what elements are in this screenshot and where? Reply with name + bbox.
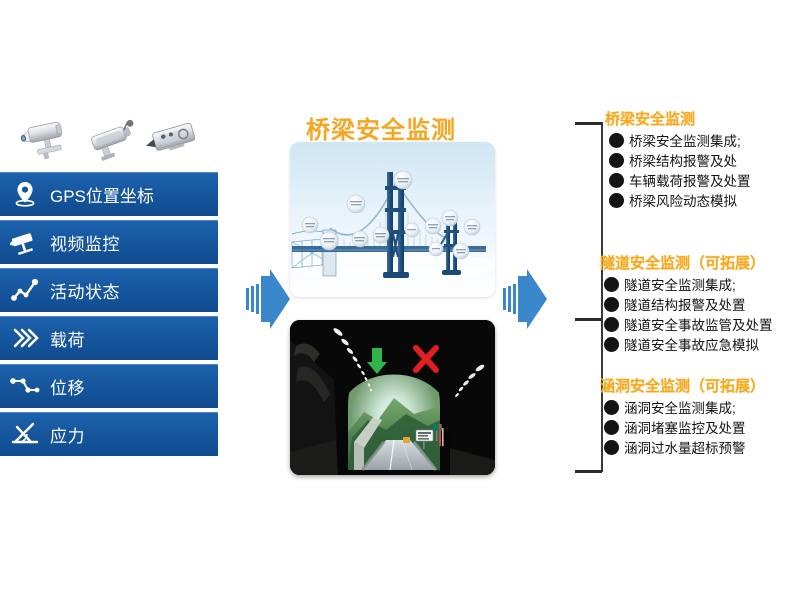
sidebar-item-displacement[interactable]: 位移 [0,364,218,408]
sidebar-item-label: 活动状态 [50,278,120,303]
group-item-list: 涵洞安全监测集成; 涵洞堵塞监控及处置 涵洞过水量超标预警 [600,397,765,457]
bullet-icon [604,400,619,415]
bullet-icon [609,193,624,208]
list-item: 隧道结构报警及处置 [600,294,773,314]
list-item-label: 桥梁结构报警及处 [629,150,737,170]
list-item: 涵洞堵塞监控及处置 [600,417,765,437]
sidebar-item-load[interactable]: 载荷 [0,316,218,360]
chevrons-load-icon [0,316,50,360]
tunnel-photo [290,320,495,475]
capability-group-bridge: 桥梁安全监测 桥梁安全监测集成; 桥梁结构报警及处 车辆载荷报警及处置 桥梁风险… [605,108,751,210]
list-item-label: 车辆载荷报警及处置 [629,170,751,190]
list-item: 桥梁安全监测集成; [605,130,751,150]
sidebar-item-label: 位移 [50,374,85,399]
sidebar-item-stress[interactable]: 应力 [0,412,218,456]
list-item-label: 隧道安全事故监管及处置 [624,314,773,334]
list-item-label: 涵洞过水量超标预警 [624,437,746,457]
bullet-icon [604,337,619,352]
page-title: 桥梁安全监测 [306,110,496,145]
sidebar-item-label: 视频监控 [50,230,120,255]
bullet-icon [604,440,619,455]
flow-arrow-right [503,262,553,336]
load-cell-sensor-device [142,114,204,162]
list-item-label: 隧道安全监测集成; [624,274,736,294]
flow-arrow-left [246,262,296,336]
bracket-tick-tunnel [575,318,602,321]
monitoring-parameter-list: GPS位置坐标 视频监控 [0,172,218,460]
sidebar-item-label: 应力 [50,422,85,447]
camera-sensor-device [18,114,80,162]
group-item-list: 隧道安全监测集成; 隧道结构报警及处置 隧道安全事故监管及处置 隧道安全事故应急… [600,274,773,354]
displacement-nodes-icon [0,364,50,408]
bullet-icon [604,297,619,312]
list-item: 桥梁风险动态模拟 [605,190,751,210]
bracket-tick-bridge [575,122,602,125]
right-capability-panel: 桥梁安全监测 桥梁安全监测集成; 桥梁结构报警及处 车辆载荷报警及处置 桥梁风险… [575,100,800,490]
list-item: 隧道安全事故监管及处置 [600,314,773,334]
bullet-icon [604,317,619,332]
sidebar-item-label: GPS位置坐标 [50,182,154,207]
group-title: 隧道安全监测（可拓展） [600,252,773,273]
group-title: 桥梁安全监测 [605,108,751,129]
capability-group-culvert: 涵洞安全监测（可拓展） 涵洞安全监测集成; 涵洞堵塞监控及处置 涵洞过水量超标预… [600,375,765,457]
sidebar-item-activity[interactable]: 活动状态 [0,268,218,312]
list-item: 涵洞过水量超标预警 [600,437,765,457]
group-item-list: 桥梁安全监测集成; 桥梁结构报警及处 车辆载荷报警及处置 桥梁风险动态模拟 [605,130,751,210]
cctv-camera-icon [0,220,50,264]
location-pin-icon [0,172,50,216]
list-item: 车辆载荷报警及处置 [605,170,751,190]
bracket-tick-culvert [575,470,602,473]
list-item-label: 涵洞安全监测集成; [624,397,736,417]
sensor-device-row [10,108,200,166]
bullet-icon [609,173,624,188]
bullet-icon [609,153,624,168]
sidebar-item-label: 载荷 [50,326,85,351]
sidebar-item-video[interactable]: 视频监控 [0,220,218,264]
list-item-label: 桥梁安全监测集成; [629,130,741,150]
capability-group-tunnel: 隧道安全监测（可拓展） 隧道安全监测集成; 隧道结构报警及处置 隧道安全事故监管… [600,252,773,354]
bullet-icon [609,133,624,148]
activity-chart-icon [0,268,50,312]
list-item: 隧道安全监测集成; [600,274,773,294]
bullet-icon [604,420,619,435]
suspension-bridge-illustration [290,142,495,297]
diagram-canvas: GPS位置坐标 视频监控 [0,0,800,600]
list-item-label: 隧道安全事故应急模拟 [624,334,759,354]
stress-angle-icon [0,412,50,456]
bullet-icon [604,277,619,292]
group-title: 涵洞安全监测（可拓展） [600,375,765,396]
list-item: 隧道安全事故应急模拟 [600,334,773,354]
list-item-label: 涵洞堵塞监控及处置 [624,417,746,437]
list-item-label: 隧道结构报警及处置 [624,294,746,314]
inclinometer-sensor-device [82,114,144,162]
sidebar-item-gps[interactable]: GPS位置坐标 [0,172,218,216]
list-item-label: 桥梁风险动态模拟 [629,190,737,210]
list-item: 桥梁结构报警及处 [605,150,751,170]
list-item: 涵洞安全监测集成; [600,397,765,417]
